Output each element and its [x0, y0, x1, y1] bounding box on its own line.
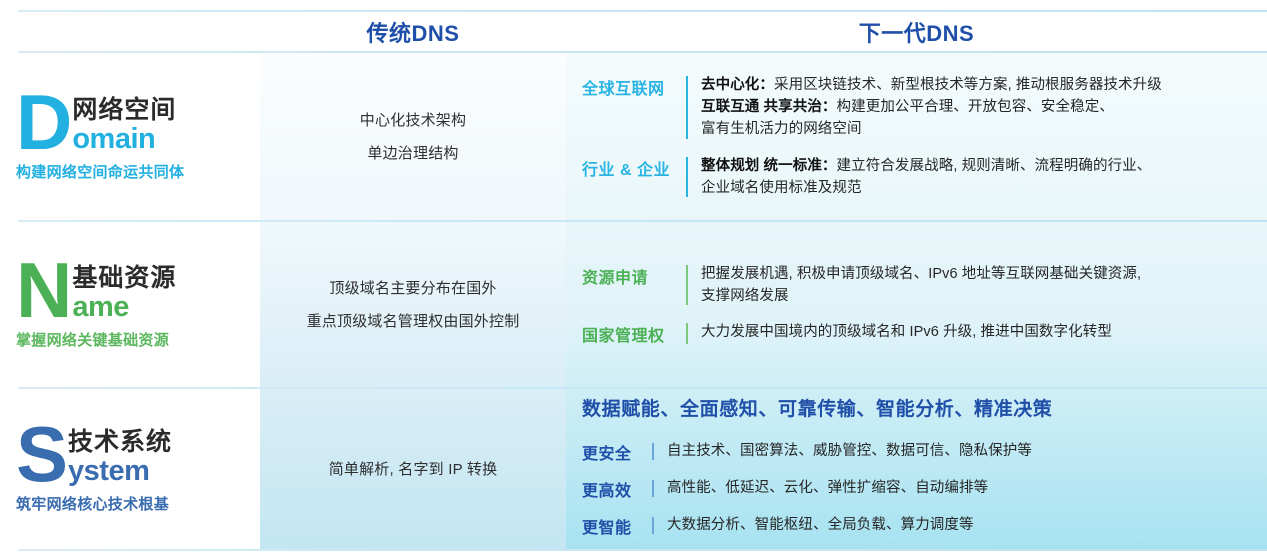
- table-row: D网络空间omain构建网络空间命运共同体中心化技术架构单边治理结构全球互联网去…: [0, 53, 1267, 220]
- column-header-traditional: 传统DNS: [260, 12, 566, 51]
- pillar-name-cn: 基础资源: [72, 264, 176, 292]
- feature-separator-bar: [686, 323, 688, 344]
- feature-description-line: 整体规划 统一标准：建立符合发展战略, 规则清晰、流程明确的行业、: [701, 155, 1257, 177]
- feature-description-line: 大数据分析、智能枢纽、全局负载、算力调度等: [667, 514, 1257, 536]
- feature-item: 更高效高性能、低延迟、云化、弹性扩缩容、自动编排等: [582, 476, 1257, 501]
- feature-description-text: 大数据分析、智能枢纽、全局负载、算力调度等: [667, 517, 974, 533]
- divider-bottom: [18, 549, 1267, 551]
- feature-description-line: 去中心化：采用区块链技术、新型根技术等方案, 推动根服务器技术升级: [701, 74, 1257, 96]
- feature-description-text: 采用区块链技术、新型根技术等方案, 推动根服务器技术升级: [774, 77, 1162, 93]
- feature-description: 去中心化：采用区块链技术、新型根技术等方案, 推动根服务器技术升级互联互通 共享…: [701, 74, 1257, 140]
- pillar-logo-cell: D网络空间omain构建网络空间命运共同体: [0, 53, 260, 220]
- feature-description-line: 大力发展中国境内的顶级域名和 IPv6 升级, 推进中国数字化转型: [701, 321, 1257, 343]
- pillar-logo: S技术系统ystem: [16, 424, 260, 486]
- feature-description-line: 互联互通 共享共治：构建更加公平合理、开放包容、安全稳定、: [701, 96, 1257, 118]
- feature-item: 全球互联网去中心化：采用区块链技术、新型根技术等方案, 推动根服务器技术升级互联…: [582, 74, 1257, 140]
- feature-item: 资源申请把握发展机遇, 积极申请顶级域名、IPv6 地址等互联网基础关键资源,支…: [582, 263, 1257, 307]
- feature-label: 国家管理权: [582, 321, 676, 346]
- pillar-tagline: 掌握网络关键基础资源: [16, 329, 260, 350]
- pillar-tagline: 筑牢网络核心技术根基: [16, 493, 260, 514]
- feature-separator-bar: [652, 517, 654, 534]
- pillar-name-en: ame: [72, 293, 176, 322]
- pillar-names: 技术系统ystem: [66, 424, 172, 486]
- traditional-dns-cell: 中心化技术架构单边治理结构: [260, 53, 566, 220]
- feature-label: 资源申请: [582, 263, 676, 288]
- traditional-dns-line: 重点顶级域名管理权由国外控制: [307, 305, 520, 338]
- feature-description-line: 支撑网络发展: [701, 285, 1257, 307]
- feature-label: 更智能: [582, 513, 644, 538]
- feature-description: 大力发展中国境内的顶级域名和 IPv6 升级, 推进中国数字化转型: [701, 321, 1257, 343]
- column-header-traditional-label: 传统DNS: [367, 16, 460, 48]
- feature-item: 行业 & 企业整体规划 统一标准：建立符合发展战略, 规则清晰、流程明确的行业、…: [582, 155, 1257, 199]
- feature-description-text: 把握发展机遇, 积极申请顶级域名、IPv6 地址等互联网基础关键资源,: [701, 266, 1141, 282]
- traditional-dns-cell: 顶级域名主要分布在国外重点顶级域名管理权由国外控制: [260, 222, 566, 387]
- feature-label: 行业 & 企业: [582, 155, 676, 180]
- pillar-logo: N基础资源ame: [16, 260, 260, 322]
- feature-description-line: 富有生机活力的网络空间: [701, 118, 1257, 140]
- feature-description: 大数据分析、智能枢纽、全局负载、算力调度等: [667, 514, 1257, 536]
- pillar-logo-cell: S技术系统ystem筑牢网络核心技术根基: [0, 389, 260, 549]
- feature-description-line: 高性能、低延迟、云化、弹性扩缩容、自动编排等: [667, 477, 1257, 499]
- table-row: S技术系统ystem筑牢网络核心技术根基简单解析, 名字到 IP 转换数据赋能、…: [0, 389, 1267, 549]
- feature-description-text: 高性能、低延迟、云化、弹性扩缩容、自动编排等: [667, 480, 988, 496]
- feature-description: 自主技术、国密算法、威胁管控、数据可信、隐私保护等: [667, 440, 1257, 462]
- column-header-next-gen-label: 下一代DNS: [859, 16, 974, 48]
- feature-description-line: 把握发展机遇, 积极申请顶级域名、IPv6 地址等互联网基础关键资源,: [701, 263, 1257, 285]
- next-gen-dns-cell: 全球互联网去中心化：采用区块链技术、新型根技术等方案, 推动根服务器技术升级互联…: [566, 53, 1257, 220]
- pillar-name-cn: 网络空间: [72, 96, 176, 124]
- pillar-initial: D: [16, 92, 70, 153]
- feature-description-line: 企业域名使用标准及规范: [701, 177, 1257, 199]
- pillar-name-en: ystem: [68, 457, 172, 486]
- next-gen-dns-cell: 数据赋能、全面感知、可靠传输、智能分析、精准决策更安全自主技术、国密算法、威胁管…: [566, 389, 1257, 549]
- feature-description-text: 企业域名使用标准及规范: [701, 180, 862, 196]
- feature-description-text: 富有生机活力的网络空间: [701, 121, 862, 137]
- comparison-table: 传统DNS 下一代DNS D网络空间omain构建网络空间命运共同体中心化技术架…: [0, 0, 1267, 559]
- feature-description-line: 自主技术、国密算法、威胁管控、数据可信、隐私保护等: [667, 440, 1257, 462]
- feature-item: 国家管理权大力发展中国境内的顶级域名和 IPv6 升级, 推进中国数字化转型: [582, 321, 1257, 346]
- pillar-tagline: 构建网络空间命运共同体: [16, 161, 260, 182]
- feature-label: 更高效: [582, 476, 644, 501]
- traditional-dns-line: 顶级域名主要分布在国外: [329, 272, 496, 305]
- feature-label: 更安全: [582, 439, 644, 464]
- pillar-initial: S: [16, 424, 66, 485]
- feature-description-text: 建立符合发展战略, 规则清晰、流程明确的行业、: [837, 158, 1152, 174]
- feature-description: 把握发展机遇, 积极申请顶级域名、IPv6 地址等互联网基础关键资源,支撑网络发…: [701, 263, 1257, 307]
- feature-description-text: 支撑网络发展: [701, 288, 789, 304]
- table-row: N基础资源ame掌握网络关键基础资源顶级域名主要分布在国外重点顶级域名管理权由国…: [0, 222, 1267, 387]
- feature-description: 高性能、低延迟、云化、弹性扩缩容、自动编排等: [667, 477, 1257, 499]
- feature-description-emphasis: 去中心化：: [701, 77, 774, 93]
- feature-separator-bar: [686, 157, 688, 197]
- feature-description-emphasis: 整体规划 统一标准：: [701, 158, 837, 174]
- feature-separator-bar: [686, 265, 688, 305]
- feature-label: 全球互联网: [582, 74, 676, 99]
- traditional-dns-line: 中心化技术架构: [360, 104, 466, 137]
- pillar-logo-cell: N基础资源ame掌握网络关键基础资源: [0, 222, 260, 387]
- pillar-names: 网络空间omain: [70, 92, 176, 154]
- pillar-name-en: omain: [72, 125, 176, 154]
- feature-description-emphasis: 互联互通 共享共治：: [701, 99, 837, 115]
- feature-description-text: 自主技术、国密算法、威胁管控、数据可信、隐私保护等: [667, 443, 1032, 459]
- feature-separator-bar: [652, 480, 654, 497]
- pillar-logo: D网络空间omain: [16, 92, 260, 154]
- pillar-initial: N: [16, 260, 70, 321]
- feature-description-text: 构建更加公平合理、开放包容、安全稳定、: [837, 99, 1114, 115]
- feature-separator-bar: [686, 76, 688, 138]
- feature-description: 整体规划 统一标准：建立符合发展战略, 规则清晰、流程明确的行业、企业域名使用标…: [701, 155, 1257, 199]
- feature-item: 更安全自主技术、国密算法、威胁管控、数据可信、隐私保护等: [582, 439, 1257, 464]
- pillar-names: 基础资源ame: [70, 260, 176, 322]
- next-gen-headline: 数据赋能、全面感知、可靠传输、智能分析、精准决策: [582, 394, 1257, 421]
- feature-description-text: 大力发展中国境内的顶级域名和 IPv6 升级, 推进中国数字化转型: [701, 324, 1112, 340]
- next-gen-dns-cell: 资源申请把握发展机遇, 积极申请顶级域名、IPv6 地址等互联网基础关键资源,支…: [566, 222, 1257, 387]
- traditional-dns-line: 简单解析, 名字到 IP 转换: [329, 453, 498, 486]
- pillar-name-cn: 技术系统: [68, 428, 172, 456]
- traditional-dns-cell: 简单解析, 名字到 IP 转换: [260, 389, 566, 549]
- traditional-dns-line: 单边治理结构: [367, 137, 458, 170]
- column-header-next-gen: 下一代DNS: [566, 12, 1267, 51]
- feature-separator-bar: [652, 443, 654, 460]
- feature-item: 更智能大数据分析、智能枢纽、全局负载、算力调度等: [582, 513, 1257, 538]
